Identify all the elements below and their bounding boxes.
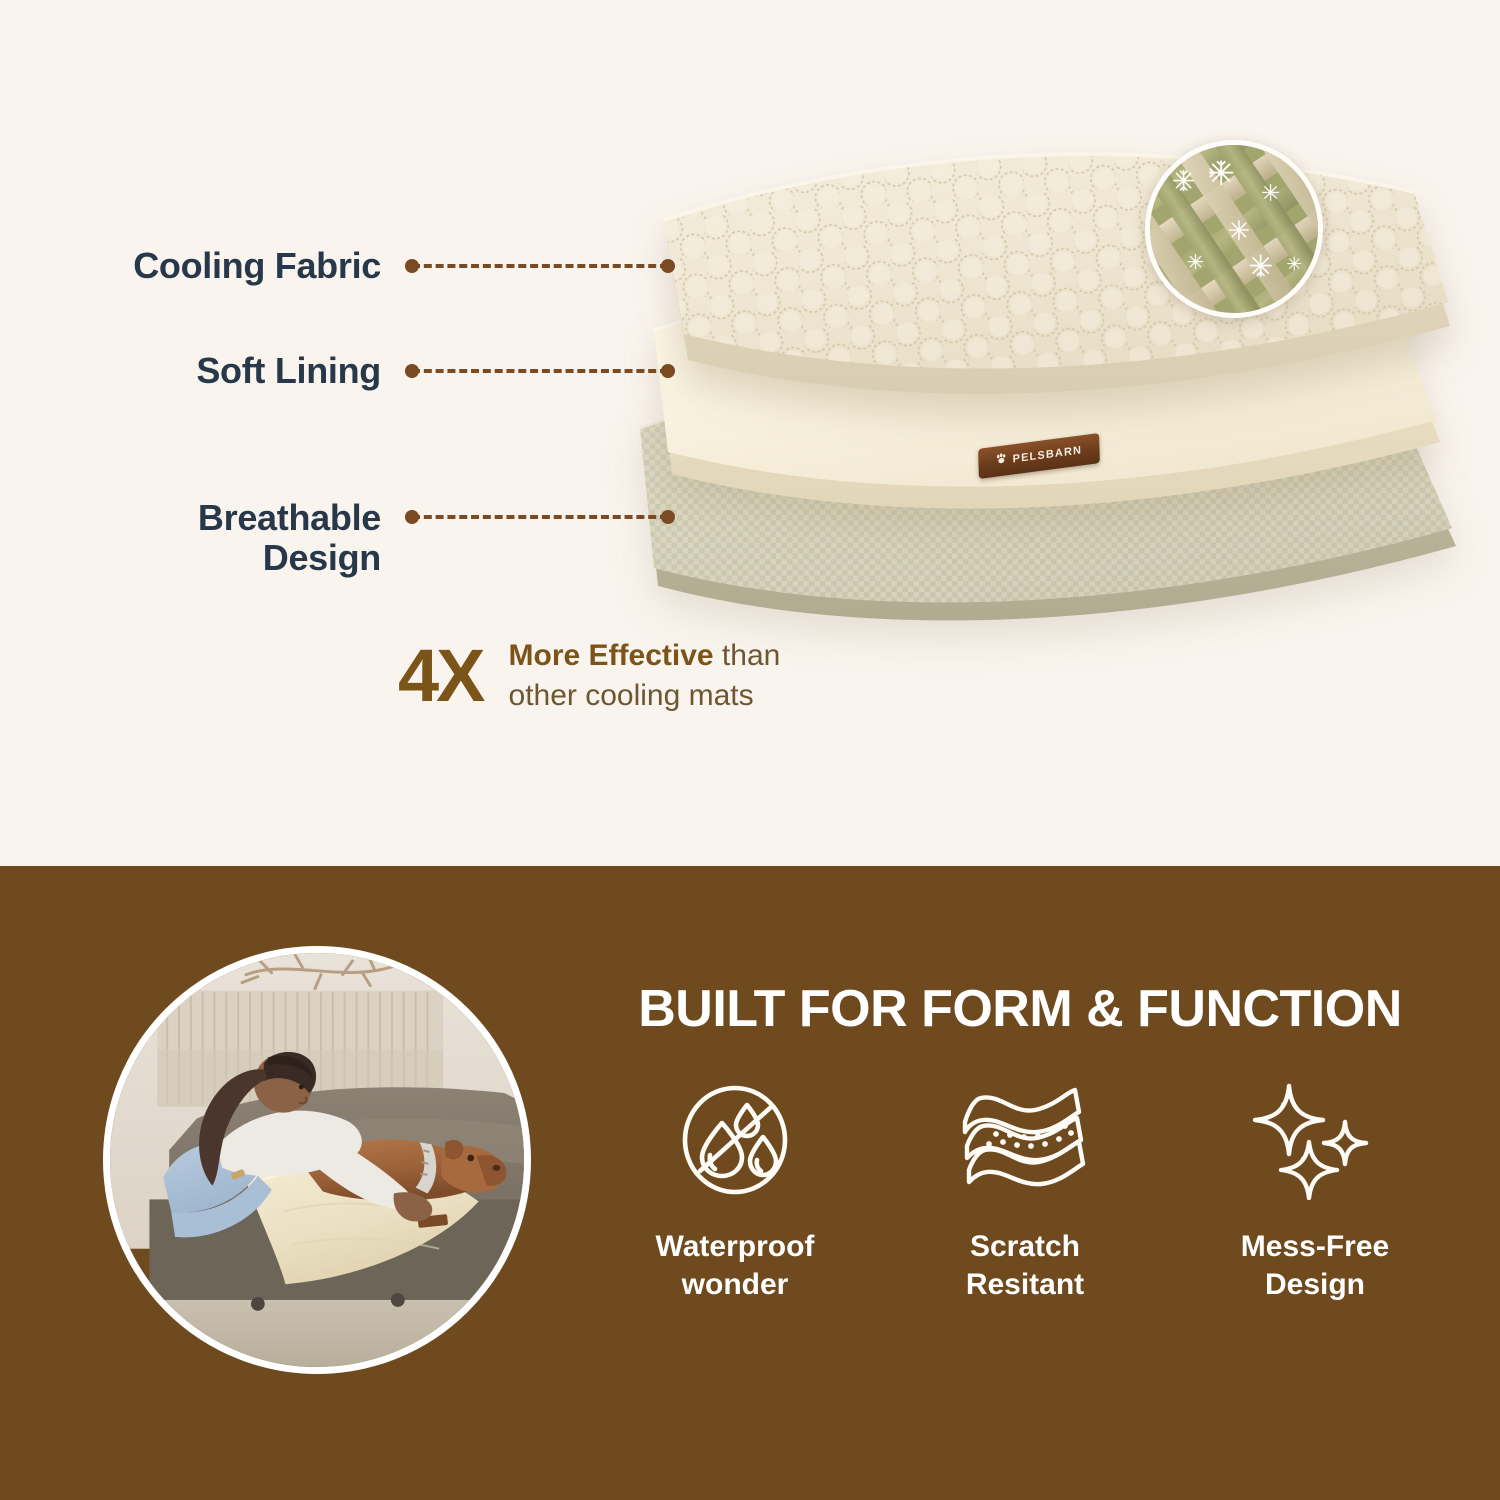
connector-dot-end — [661, 364, 675, 378]
paw-logo-icon — [996, 451, 1008, 471]
effectiveness-claim: 4X More Effective than other cooling mat… — [398, 636, 839, 716]
layers-breakdown-section: PELSBARN — [0, 0, 1500, 866]
feature-label-waterproof: Waterproof wonder — [656, 1228, 815, 1304]
callout-label-soft-lining: Soft Lining — [95, 351, 405, 391]
claim-text: More Effective than other cooling mats — [509, 636, 839, 716]
callout-group: Cooling Fabric Soft Lining Breathable De… — [0, 0, 720, 620]
fabric-macro-inset — [1145, 140, 1323, 318]
feature-waterproof: Waterproof wonder — [610, 1074, 860, 1304]
callout-label-cooling-fabric: Cooling Fabric — [95, 246, 405, 286]
connector-dot-end — [661, 510, 675, 524]
callout-cooling-fabric: Cooling Fabric — [95, 246, 675, 286]
section-heading: BUILT FOR FORM & FUNCTION — [580, 979, 1460, 1039]
lifestyle-photo — [103, 946, 531, 1374]
connector-dash — [412, 515, 668, 519]
callout-label-breathable-design: Breathable Design — [95, 496, 405, 579]
callout-soft-lining: Soft Lining — [95, 351, 675, 391]
callout-breathable-design: Breathable Design — [95, 496, 675, 579]
claim-multiplier: 4X — [398, 639, 483, 713]
brand-name: PELSBARN — [1013, 444, 1083, 465]
claim-strong: More Effective — [509, 639, 714, 672]
cooling-fabric-top-layer — [652, 140, 1452, 540]
connector-dot-end — [661, 259, 675, 273]
feature-scratch-resistant: Scratch Resitant — [900, 1074, 1150, 1304]
feature-label-mess-free: Mess-Free Design — [1241, 1228, 1389, 1304]
features-section: BUILT FOR FORM & FUNCTION Waterproof won… — [0, 866, 1500, 1500]
feature-label-scratch-resistant: Scratch Resitant — [966, 1228, 1084, 1304]
connector-dash — [412, 264, 668, 268]
product-infographic: PELSBARN — [0, 0, 1500, 1500]
feature-list: Waterproof wonder — [590, 1074, 1460, 1304]
feature-mess-free: Mess-Free Design — [1190, 1074, 1440, 1304]
connector-line-breathable-design — [405, 510, 675, 524]
connector-dash — [412, 369, 668, 373]
connector-line-soft-lining — [405, 364, 675, 378]
sparkles-icon — [1253, 1074, 1377, 1206]
connector-line-cooling-fabric — [405, 259, 675, 273]
layered-fabric-waves-icon — [957, 1074, 1093, 1206]
no-water-droplets-icon — [676, 1074, 794, 1206]
